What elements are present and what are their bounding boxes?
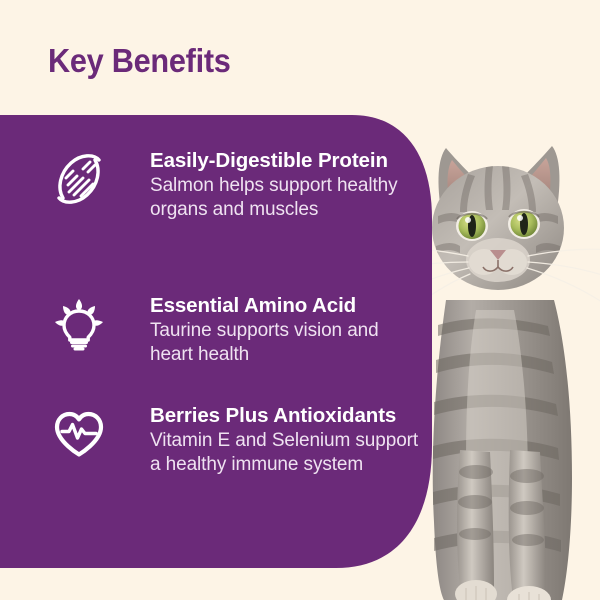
heart-pulse-icon bbox=[52, 403, 114, 461]
benefit-title: Easily-Digestible Protein bbox=[150, 148, 420, 173]
key-benefits-graphic: Key Benefits bbox=[0, 0, 600, 600]
benefit-item-protein: Easily-Digestible Protein Salmon helps s… bbox=[52, 148, 425, 222]
benefit-text-antioxidants: Berries Plus Antioxidants Vitamin E and … bbox=[114, 403, 425, 477]
benefit-description: Taurine supports vision and heart health bbox=[150, 319, 425, 367]
benefit-text-amino-acid: Essential Amino Acid Taurine supports vi… bbox=[114, 293, 425, 367]
benefit-item-antioxidants: Berries Plus Antioxidants Vitamin E and … bbox=[52, 403, 425, 477]
benefit-description: Vitamin E and Selenium support a healthy… bbox=[150, 429, 425, 477]
benefit-title: Berries Plus Antioxidants bbox=[150, 403, 420, 428]
benefit-text-protein: Easily-Digestible Protein Salmon helps s… bbox=[114, 148, 425, 222]
benefits-panel: Easily-Digestible Protein Salmon helps s… bbox=[0, 115, 470, 568]
dna-helix-icon bbox=[52, 148, 114, 206]
benefit-item-amino-acid: Essential Amino Acid Taurine supports vi… bbox=[52, 293, 425, 367]
benefit-title: Essential Amino Acid bbox=[150, 293, 420, 318]
benefit-description: Salmon helps support healthy organs and … bbox=[150, 174, 425, 222]
lightbulb-icon bbox=[52, 293, 114, 351]
page-title: Key Benefits bbox=[48, 44, 231, 77]
benefits-list: Easily-Digestible Protein Salmon helps s… bbox=[0, 115, 470, 568]
